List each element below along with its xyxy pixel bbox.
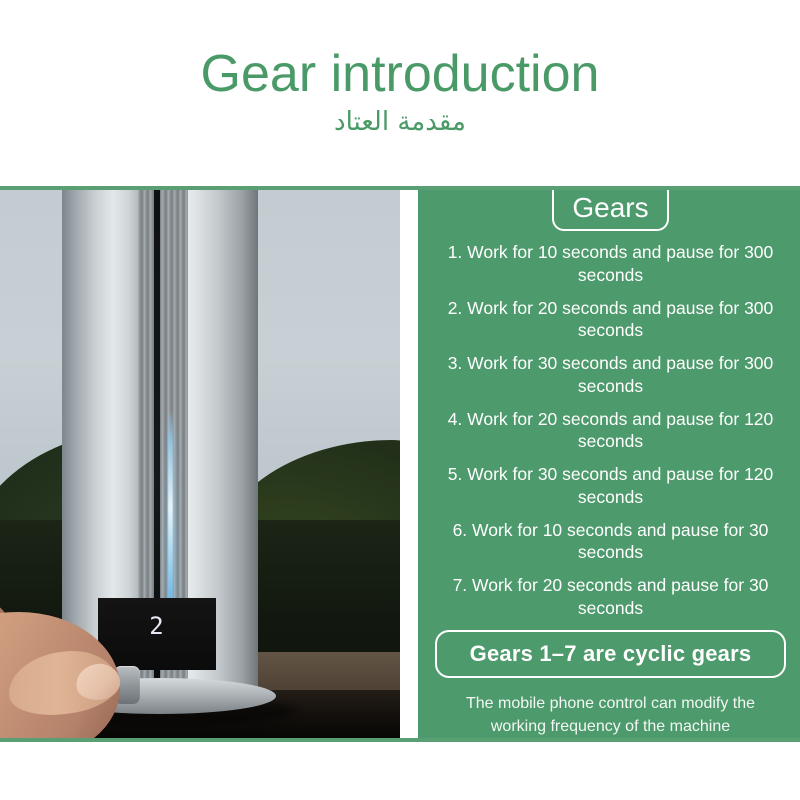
gears-badge-row: Gears: [435, 190, 786, 231]
gear-introduction-page: Gear introduction مقدمة العتاد 2: [0, 0, 800, 800]
page-subtitle-arabic: مقدمة العتاد: [334, 108, 466, 137]
footnote-line-2: working frequency of the machine: [435, 715, 786, 738]
content-frame: 2 Gears 1. Work for 10 seconds and pause…: [0, 186, 800, 742]
cyclic-gears-note: Gears 1–7 are cyclic gears: [435, 630, 786, 678]
list-item: 2. Work for 20 seconds and pause for 300…: [435, 297, 786, 343]
gears-list: 1. Work for 10 seconds and pause for 300…: [435, 241, 786, 620]
product-photo: 2: [0, 190, 400, 738]
list-item: 3. Work for 30 seconds and pause for 300…: [435, 352, 786, 398]
list-item: 1. Work for 10 seconds and pause for 300…: [435, 241, 786, 287]
footnote: The mobile phone control can modify the …: [435, 692, 786, 739]
footer-whitespace: [0, 742, 800, 800]
list-item: 6. Work for 10 seconds and pause for 30 …: [435, 519, 786, 565]
gears-badge: Gears: [552, 190, 668, 231]
list-item: 5. Work for 30 seconds and pause for 120…: [435, 463, 786, 509]
page-title: Gear introduction: [201, 48, 600, 100]
list-item: 4. Work for 20 seconds and pause for 120…: [435, 408, 786, 454]
panel-gap: [400, 190, 418, 738]
gears-info-panel: Gears 1. Work for 10 seconds and pause f…: [418, 190, 800, 738]
list-item: 7. Work for 20 seconds and pause for 30 …: [435, 574, 786, 620]
user-hand: [0, 578, 180, 738]
footnote-line-1: The mobile phone control can modify the: [435, 692, 786, 715]
page-header: Gear introduction مقدمة العتاد: [0, 0, 800, 186]
